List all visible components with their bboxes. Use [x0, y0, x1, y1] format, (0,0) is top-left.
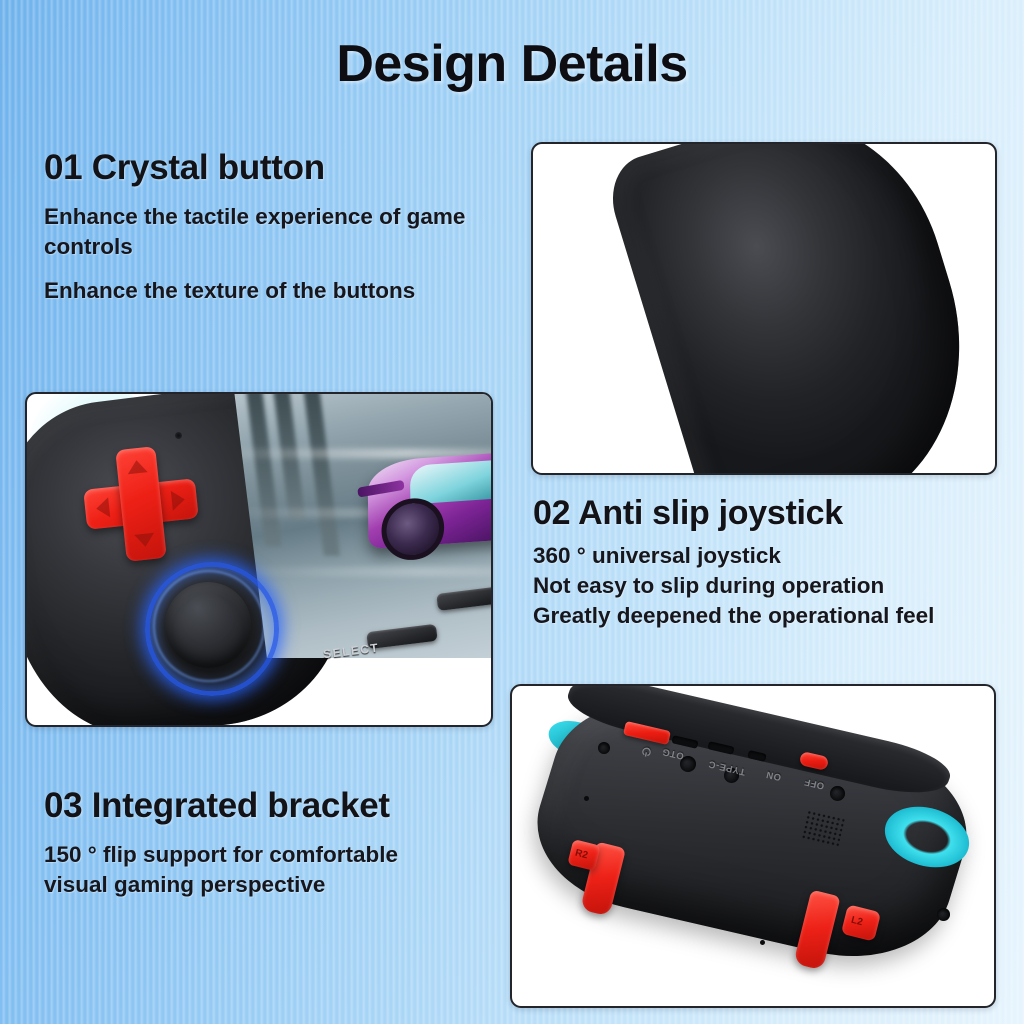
section-01-line-2: Enhance the texture of the buttons: [44, 276, 474, 306]
back-scene: ⏻ OTG TYPE-C ON OFF R2 L2: [512, 686, 994, 1006]
photo-dpad-closeup: SELECT: [25, 392, 493, 727]
microphone-hole: [175, 432, 182, 439]
port-hole-4: [830, 786, 845, 801]
section-01-heading: 01 Crystal button: [44, 148, 474, 188]
section-02-text: 02 Anti slip joystick 360 ° universal jo…: [533, 494, 934, 631]
section-01-line-1: Enhance the tactile experience of game c…: [44, 202, 474, 262]
section-02-line-1: 360 ° universal joystick: [533, 541, 934, 571]
port-hole-1: [598, 742, 610, 754]
console-body-right: [601, 142, 997, 475]
section-03-heading: 03 Integrated bracket: [44, 786, 464, 826]
pinhole-1: [584, 796, 589, 801]
section-03-text: 03 Integrated bracket 150 ° flip support…: [44, 786, 464, 900]
port-hole-5: [937, 908, 950, 921]
section-02-heading: 02 Anti slip joystick: [533, 494, 934, 533]
photo-back-view: ⏻ OTG TYPE-C ON OFF R2 L2: [510, 684, 996, 1008]
section-02-line-2: Not easy to slip during operation: [533, 571, 934, 601]
section-01-text: 01 Crystal button Enhance the tactile ex…: [44, 148, 474, 306]
pinhole-2: [760, 940, 765, 945]
dpad-right-icon: [171, 489, 186, 510]
analog-joystick-left[interactable]: [165, 582, 251, 668]
joystick-scene: Y B X A: [533, 144, 995, 473]
section-02-line-3: Greatly deepened the operational feel: [533, 601, 934, 631]
dpad-down-icon: [134, 533, 155, 548]
infographic-page: Design Details 01 Crystal button Enhance…: [0, 0, 1024, 1024]
section-03-line-1: 150 ° flip support for comfortable visua…: [44, 840, 464, 900]
dpad-control[interactable]: [79, 442, 202, 565]
page-title: Design Details: [0, 34, 1024, 94]
game-car-sprite-left: [367, 447, 493, 549]
photo-joystick-closeup: Y B X A: [531, 142, 997, 475]
dpad-scene: SELECT: [27, 394, 491, 725]
dpad-up-icon: [126, 459, 147, 474]
dpad-left-icon: [95, 497, 110, 518]
